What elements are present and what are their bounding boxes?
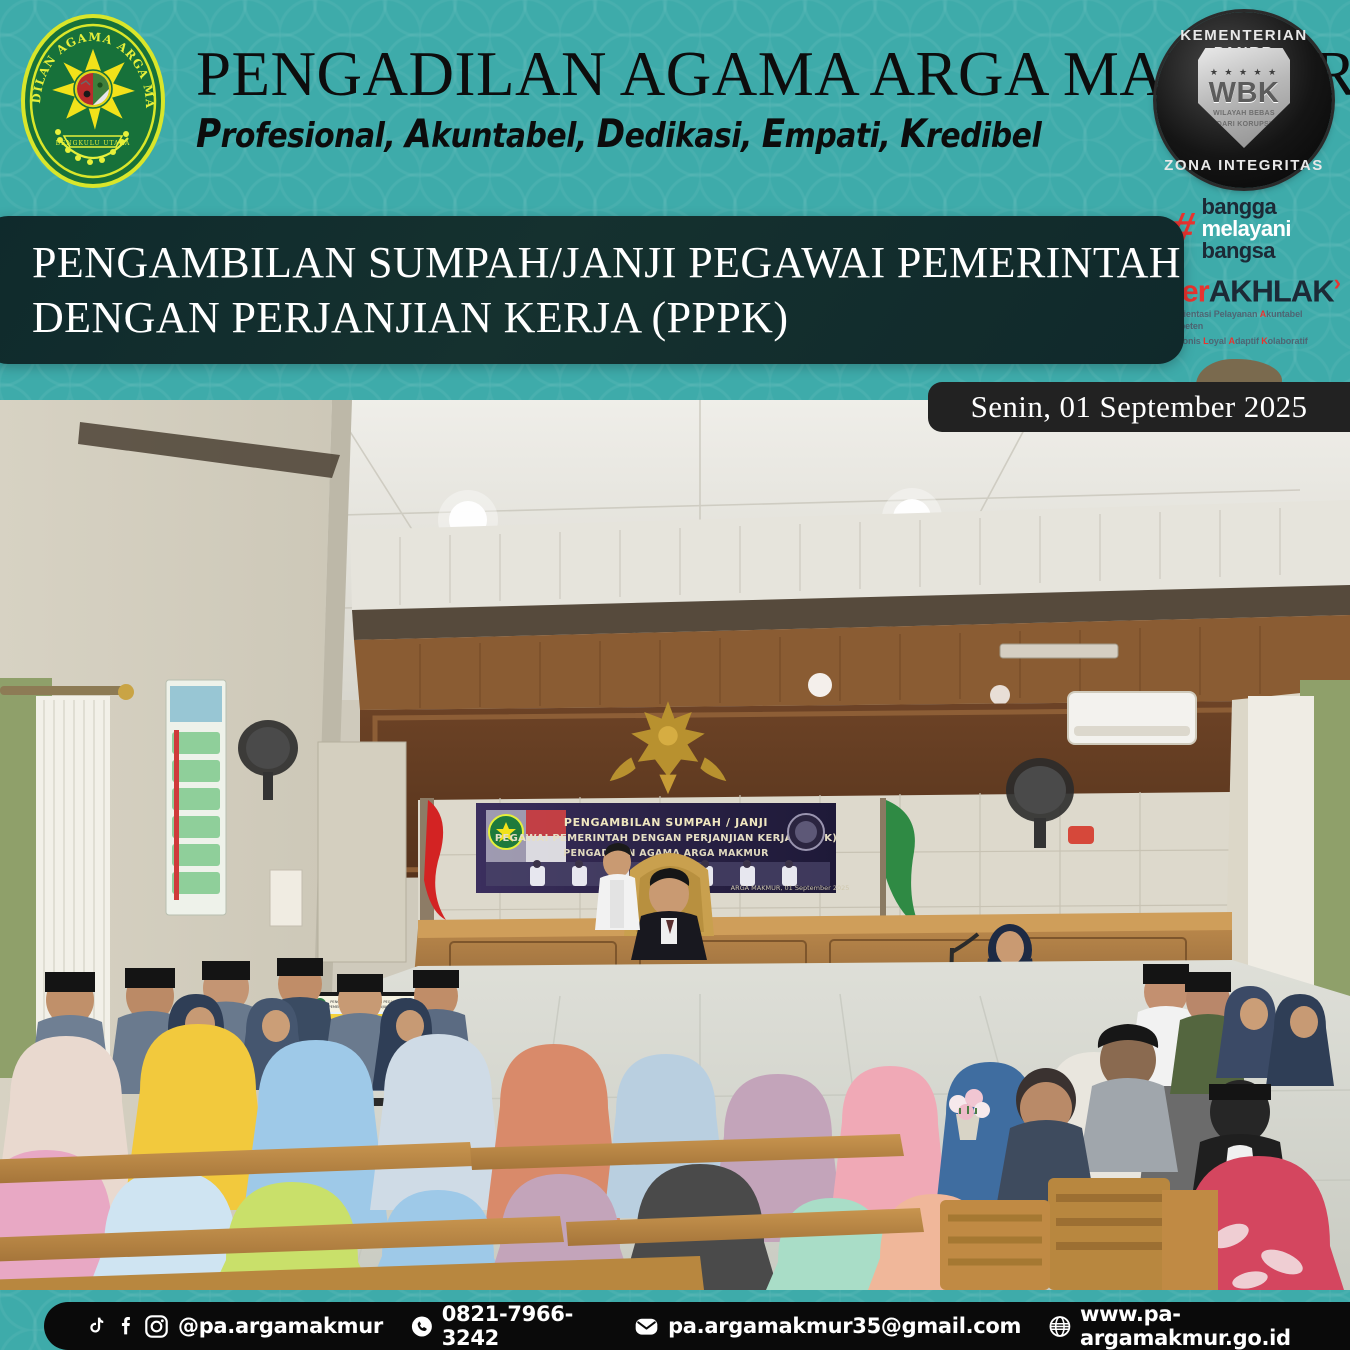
wbk-bottom-text: ZONA INTEGRITAS: [1156, 157, 1332, 174]
wbk-shield-icon: ★ ★ ★ ★ ★ WBK WILAYAH BEBAS DARI KORUPSI: [1198, 48, 1290, 148]
event-title-line-2: DENGAN PERJANJIAN KERJA (PPPK): [32, 290, 1162, 345]
email-group[interactable]: pa.argamakmur35@gmail.com: [634, 1314, 1021, 1339]
instagram-icon[interactable]: [144, 1314, 169, 1339]
berakhlak-values-line-1: Berorientasi Pelayanan Akuntabel Kompete…: [1160, 308, 1344, 332]
phone-number: 0821-7966-3242: [442, 1302, 606, 1350]
phone-icon[interactable]: [411, 1314, 433, 1339]
photo-scene: PENGAMBILAN SUMPAH / JANJI PEGAWAI PEMER…: [0, 400, 1350, 1290]
org-tagline: Profesional, Akuntabel, Dedikasi, Empati…: [196, 112, 1014, 157]
website-group[interactable]: www.pa-argamakmur.go.id: [1049, 1302, 1350, 1350]
svg-text:PENGAMBILAN SUMPAH / JANJI: PENGAMBILAN SUMPAH / JANJI: [564, 816, 768, 829]
wbk-subtext-1: WILAYAH BEBAS: [1213, 110, 1275, 118]
bangga-line-1: bangga: [1201, 196, 1290, 218]
wbk-zona-integritas-badge-icon: KEMENTERIAN PANRB ★ ★ ★ ★ ★ WBK WILAYAH …: [1156, 12, 1332, 188]
header-text-block: PENGADILAN AGAMA ARGA MAKMUR Profesional…: [196, 42, 1126, 157]
court-seal-emblem-icon: PENGADILAN AGAMA ARGA MAKMUR: [18, 12, 168, 190]
event-date-text: Senin, 01 September 2025: [971, 389, 1308, 425]
wbk-acronym: WBK: [1209, 79, 1280, 108]
tiktok-icon[interactable]: [86, 1314, 106, 1338]
berakhlak-values-line-2: Harmonis Loyal Adaptif Kolaboratif: [1160, 335, 1344, 347]
page-title: PENGADILAN AGAMA ARGA MAKMUR: [196, 42, 1126, 106]
social-media-group[interactable]: @pa.argamakmur: [86, 1314, 383, 1339]
facebook-icon[interactable]: [115, 1314, 135, 1338]
event-date-badge: Senin, 01 September 2025: [928, 382, 1350, 432]
berakhlak-logo-icon: BerAKHLAK› Berorientasi Pelayanan Akunta…: [1160, 272, 1344, 347]
header: PENGADILAN AGAMA ARGA MAKMUR: [0, 0, 1350, 205]
svg-text:BENGKULU UTARA: BENGKULU UTARA: [56, 140, 131, 147]
globe-icon[interactable]: [1049, 1314, 1071, 1339]
wbk-subtext-2: DARI KORUPSI: [1217, 121, 1272, 129]
berakhlak-arrow-icon: ›: [1334, 270, 1340, 295]
berakhlak-main-word: AKHLAK: [1209, 273, 1334, 308]
svg-text:PEGAWAI PEMERINTAH DENGAN PERJ: PEGAWAI PEMERINTAH DENGAN PERJANJIAN KER…: [495, 833, 837, 844]
phone-group[interactable]: 0821-7966-3242: [411, 1302, 606, 1350]
bangga-line-3: bangsa: [1201, 240, 1290, 262]
website-url: www.pa-argamakmur.go.id: [1080, 1302, 1350, 1350]
footer-contact-bar: @pa.argamakmur 0821-7966-3242 pa.argamak…: [44, 1302, 1350, 1350]
email-icon[interactable]: [634, 1314, 659, 1339]
svg-text:ARGA MAKMUR, 01 September 2025: ARGA MAKMUR, 01 September 2025: [731, 884, 850, 892]
social-handle: @pa.argamakmur: [178, 1314, 383, 1338]
bangga-line-2: melayani: [1201, 218, 1290, 240]
email-address: pa.argamakmur35@gmail.com: [668, 1314, 1021, 1338]
event-photograph: PENGAMBILAN SUMPAH / JANJI PEGAWAI PEMER…: [0, 400, 1350, 1290]
event-title-line-1: PENGAMBILAN SUMPAH/JANJI PEGAWAI PEMERIN…: [32, 235, 1162, 290]
event-title-banner: PENGAMBILAN SUMPAH/JANJI PEGAWAI PEMERIN…: [0, 216, 1184, 364]
bangga-melayani-bangsa-logo-icon: # bangga melayani bangsa: [1170, 196, 1344, 262]
